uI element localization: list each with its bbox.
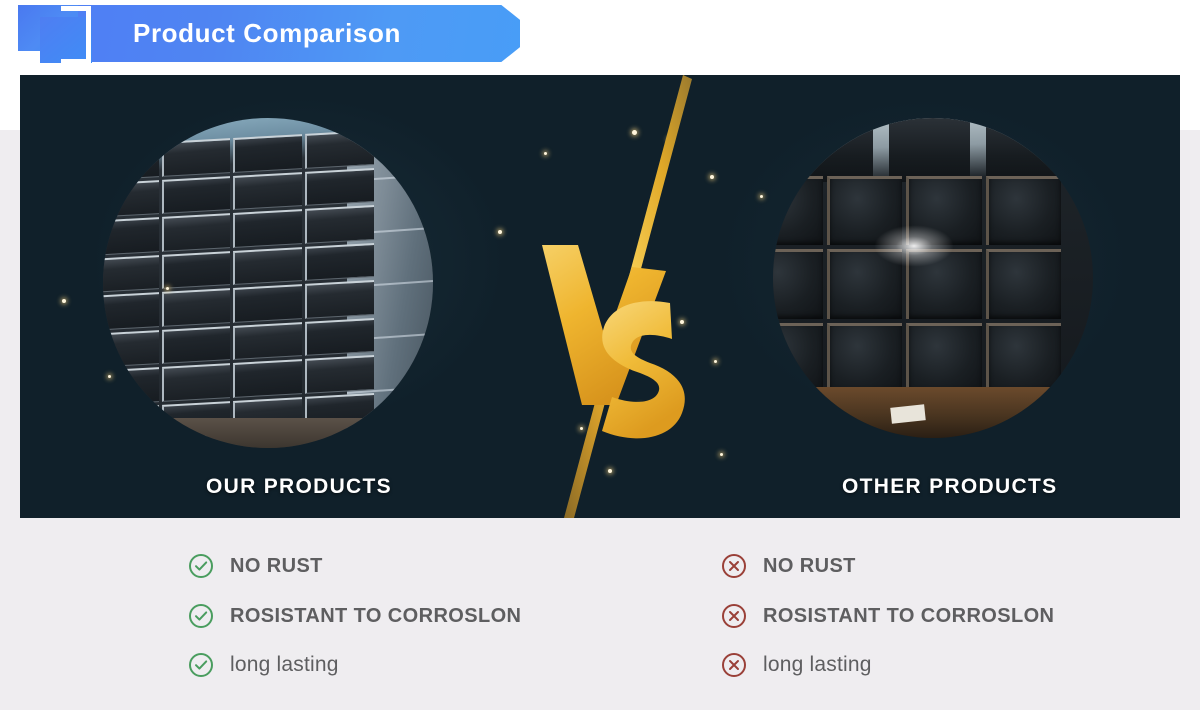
x-circle-icon — [721, 603, 747, 629]
photo-others-rust-floor — [773, 387, 1093, 438]
photo-others-top-row — [792, 118, 1067, 182]
photo-ours-image — [103, 118, 433, 448]
feature-row: long lasting — [721, 648, 872, 682]
product-label-others: OTHER PRODUCTS — [842, 475, 1057, 499]
check-circle-icon — [188, 652, 214, 678]
versus-lightning-icon — [520, 75, 720, 518]
check-circle-icon — [188, 553, 214, 579]
feature-label: long lasting — [763, 653, 872, 677]
x-circle-icon — [721, 652, 747, 678]
product-photo-others — [773, 118, 1093, 438]
sparkle-icon — [108, 375, 111, 378]
feature-row: ROSISTANT TO CORROSLON — [721, 599, 1054, 633]
photo-others-highlight — [874, 225, 954, 267]
header-banner: Product Comparison — [18, 5, 520, 62]
sparkle-icon — [760, 195, 763, 198]
check-circle-icon — [188, 603, 214, 629]
sparkle-icon — [720, 453, 723, 456]
page-title: Product Comparison — [133, 5, 401, 62]
feature-label: long lasting — [230, 653, 339, 677]
feature-label: NO RUST — [230, 555, 323, 578]
feature-label: ROSISTANT TO CORROSLON — [763, 605, 1054, 628]
feature-label: ROSISTANT TO CORROSLON — [230, 605, 521, 628]
photo-others-image — [773, 118, 1093, 438]
sparkle-icon — [166, 287, 169, 290]
feature-row: long lasting — [188, 648, 339, 682]
feature-label: NO RUST — [763, 555, 856, 578]
product-label-ours: OUR PRODUCTS — [206, 475, 392, 499]
sparkle-icon — [498, 230, 502, 234]
comparison-panel: OUR PRODUCTS OTHER PRODUCTS — [20, 75, 1180, 518]
x-circle-icon — [721, 553, 747, 579]
feature-row: ROSISTANT TO CORROSLON — [188, 599, 521, 633]
feature-comparison: NO RUST ROSISTANT TO CORROSLON long last… — [0, 518, 1200, 710]
feature-row: NO RUST — [188, 549, 323, 583]
bracket-decoration-icon — [61, 6, 91, 64]
photo-others-tube-grid — [773, 176, 1061, 394]
product-photo-ours — [103, 118, 433, 448]
sparkle-icon — [62, 299, 66, 303]
photo-ours-floor — [103, 418, 433, 448]
feature-row: NO RUST — [721, 549, 856, 583]
photo-ours-tube-grid — [103, 130, 374, 443]
